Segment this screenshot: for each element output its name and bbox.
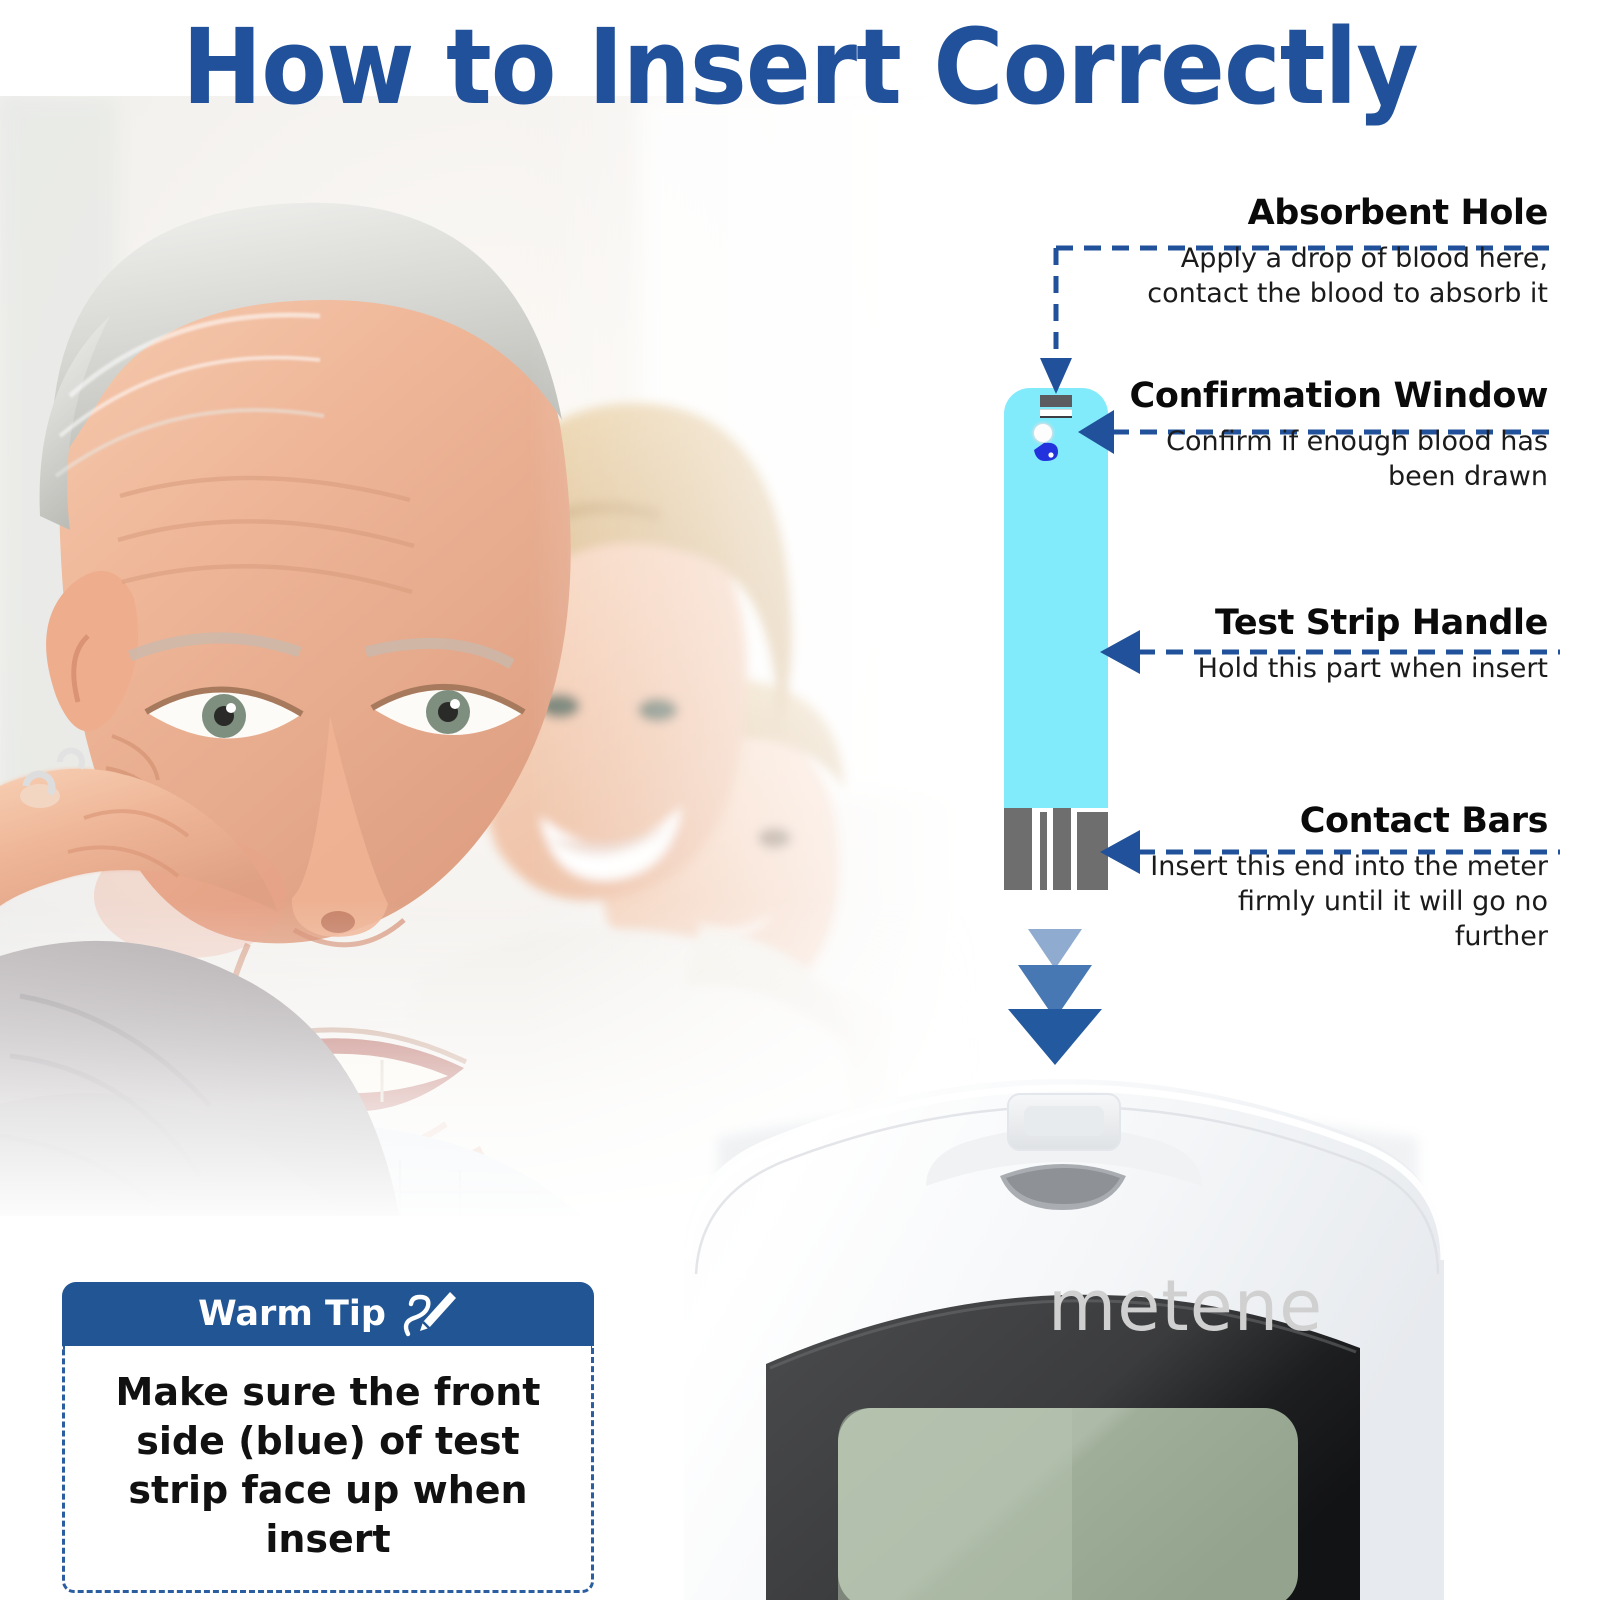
pen-icon <box>400 1290 458 1338</box>
warm-tip-box: Warm Tip Make sure the front side (blue)… <box>62 1282 594 1593</box>
warm-tip-text: Make sure the front side (blue) of test … <box>83 1368 573 1564</box>
callout-body: Apply a drop of blood here, contact the … <box>1078 241 1548 311</box>
callout-title: Test Strip Handle <box>880 602 1548 644</box>
callout-title: Confirmation Window <box>880 375 1548 417</box>
infographic-root: How to Insert Correctly <box>0 0 1600 1600</box>
callout-body: Insert this end into the meter firmly un… <box>1148 849 1548 954</box>
glucose-meter: metene <box>648 1078 1478 1600</box>
warm-tip-header: Warm Tip <box>62 1282 594 1346</box>
warm-tip-heading: Warm Tip <box>198 1294 386 1334</box>
callout-body: Confirm if enough blood has been drawn <box>1148 424 1548 494</box>
callout-contact-bars: Contact Bars Insert this end into the me… <box>880 800 1548 954</box>
callout-confirmation-window: Confirmation Window Confirm if enough bl… <box>880 375 1548 494</box>
family-photo <box>0 96 1010 1216</box>
callout-body: Hold this part when insert <box>1078 651 1548 686</box>
meter-brand-label: metene <box>1048 1265 1323 1347</box>
warm-tip-body: Make sure the front side (blue) of test … <box>62 1346 594 1593</box>
callout-title: Absorbent Hole <box>880 192 1548 234</box>
page-title: How to Insert Correctly <box>64 8 1536 126</box>
callout-test-strip-handle: Test Strip Handle Hold this part when in… <box>880 602 1548 686</box>
callout-absorbent-hole: Absorbent Hole Apply a drop of blood her… <box>880 192 1548 311</box>
callout-title: Contact Bars <box>880 800 1548 842</box>
